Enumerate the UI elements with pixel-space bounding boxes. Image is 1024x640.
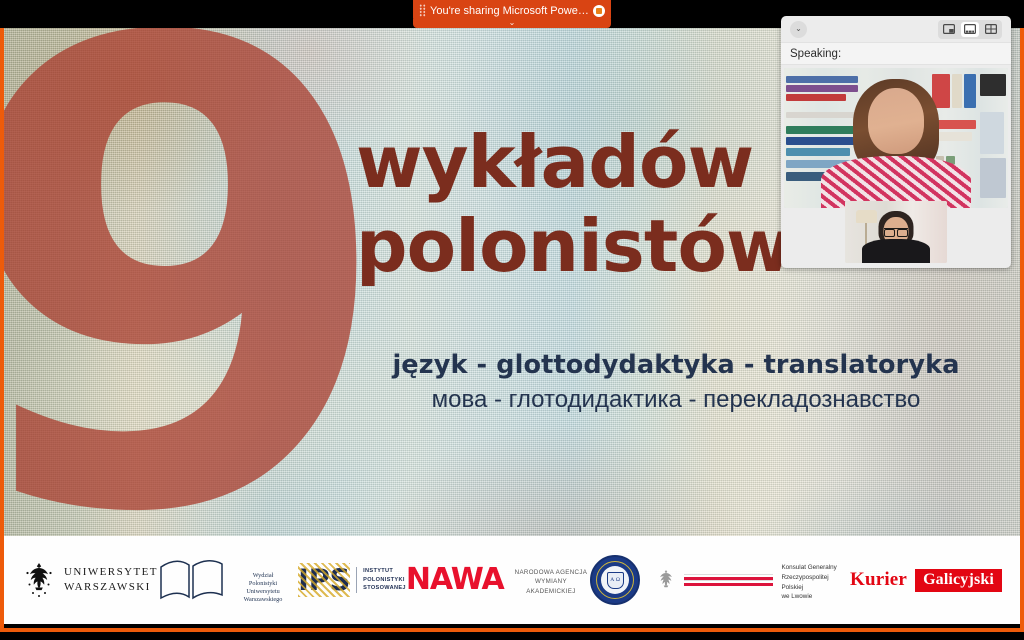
stop-sharing-button[interactable] xyxy=(593,5,605,17)
logo-kurier-galicyjski: Kurier Galicyjski xyxy=(850,568,1002,592)
speaking-status-bar: Speaking: xyxy=(781,42,1011,65)
ips-wordmark: INSTYTUT POLONISTYKI STOSOWANEJ xyxy=(363,567,406,593)
ips-divider xyxy=(356,567,357,593)
wydzial-wordmark: Wydział Polonistyki Uniwersytetu Warszaw… xyxy=(228,572,298,606)
seal-shield-letters: A Ω xyxy=(607,572,624,589)
konsulat-wordmark: Konsulat Generalny Rzeczypospolitej Pols… xyxy=(781,563,850,602)
uw-wordmark: UNIWERSYTET WARSZAWSKI xyxy=(64,565,158,595)
stop-square-icon xyxy=(596,8,602,14)
logo-uniwersytet-warszawski: UNIWERSYTET WARSZAWSKI xyxy=(22,560,158,600)
nawa-line-2: WYMIANY AKADEMICKIEJ xyxy=(512,577,591,596)
slide-subtitle: język - glottodydaktyka - translatoryka … xyxy=(356,350,996,414)
ips-mark: IPS xyxy=(298,563,350,597)
nawa-wordmark: NARODOWA AGENCJA WYMIANY AKADEMICKIEJ xyxy=(512,568,591,596)
self-view-video[interactable] xyxy=(845,201,947,263)
screen-share-toolbar[interactable]: You're sharing Microsoft Power... xyxy=(413,0,611,21)
slide-numeral-nine: 9 xyxy=(4,28,372,600)
collapse-panel-button[interactable]: ⌄ xyxy=(790,21,807,38)
wydzial-line-1: Wydział xyxy=(228,572,298,580)
flag-bar-red-2 xyxy=(684,583,773,586)
logo-university-seal: A Ω xyxy=(590,555,640,605)
nawa-line-1: NARODOWA AGENCJA xyxy=(512,568,591,577)
main-speaker-video[interactable] xyxy=(784,68,1008,208)
picture-in-picture-view-button[interactable] xyxy=(940,22,958,37)
uw-line-2: WARSZAWSKI xyxy=(64,580,158,595)
konsulat-line-3: we Lwowie xyxy=(781,592,850,602)
sharing-status-label: You're sharing Microsoft Power... xyxy=(426,5,593,17)
polish-flag-bars xyxy=(684,574,773,586)
speaker-face xyxy=(868,88,924,154)
uw-eagle-icon xyxy=(22,560,56,600)
seal-inner-disc: A Ω xyxy=(601,566,629,594)
headline-line-1: wykładów xyxy=(356,120,753,204)
active-speaker-view-button[interactable] xyxy=(961,22,979,37)
uw-line-1: UNIWERSYTET xyxy=(64,565,158,580)
polish-eagle-icon xyxy=(656,568,676,590)
self-view-glasses xyxy=(884,228,908,235)
video-call-panel[interactable]: ⌄ xyxy=(781,16,1011,268)
konsulat-line-1: Konsulat Generalny xyxy=(781,563,850,573)
university-seal-icon: A Ω xyxy=(590,555,640,605)
ips-line-1: INSTYTUT xyxy=(363,567,406,576)
self-view-clothing xyxy=(862,239,930,263)
nawa-mark: NAWA xyxy=(406,566,504,595)
kurier-line-1: Kurier xyxy=(850,570,907,590)
sponsor-logo-bar: UNIWERSYTET WARSZAWSKI Wydział Pol xyxy=(4,536,1020,624)
wydzial-line-2: Polonistyki xyxy=(228,580,298,588)
open-book-icon xyxy=(158,554,226,607)
screen-share-view: 9 wykładów polonistów język - glottodyda… xyxy=(0,0,1024,640)
speaking-label: Speaking: xyxy=(790,48,841,60)
wydzial-line-3: Uniwersytetu Warszawskiego xyxy=(228,588,298,604)
drag-handle-icon[interactable] xyxy=(419,4,426,17)
grid-view-icon xyxy=(985,24,997,34)
video-panel-header: ⌄ xyxy=(781,16,1011,42)
logo-konsulat-generalny: Konsulat Generalny Rzeczypospolitej Pols… xyxy=(640,558,850,602)
logo-ips: IPS INSTYTUT POLONISTYKI STOSOWANEJ xyxy=(298,563,406,597)
subtitle-ukrainian: мова - глотодидактика - перекладознавств… xyxy=(356,386,996,414)
self-view-lamp xyxy=(856,210,877,223)
konsulat-line-2: Rzeczypospolitej Polskiej xyxy=(781,573,850,593)
layout-switcher[interactable] xyxy=(938,20,1002,39)
subtitle-polish: język - glottodydaktyka - translatoryka xyxy=(356,350,996,380)
picture-in-picture-icon xyxy=(943,24,955,34)
logo-wydzial-polonistyki: Wydział Polonistyki Uniwersytetu Warszaw… xyxy=(158,554,298,607)
active-speaker-icon xyxy=(964,24,976,34)
chevron-down-icon: ⌄ xyxy=(795,25,802,33)
ips-line-3: STOSOWANEJ xyxy=(363,584,406,593)
logo-nawa: NAWA NARODOWA AGENCJA WYMIANY AKADEMICKI… xyxy=(406,564,590,596)
ips-line-2: POLONISTYKI xyxy=(363,576,406,585)
grid-view-button[interactable] xyxy=(982,22,1000,37)
kurier-line-2: Galicyjski xyxy=(915,569,1002,592)
